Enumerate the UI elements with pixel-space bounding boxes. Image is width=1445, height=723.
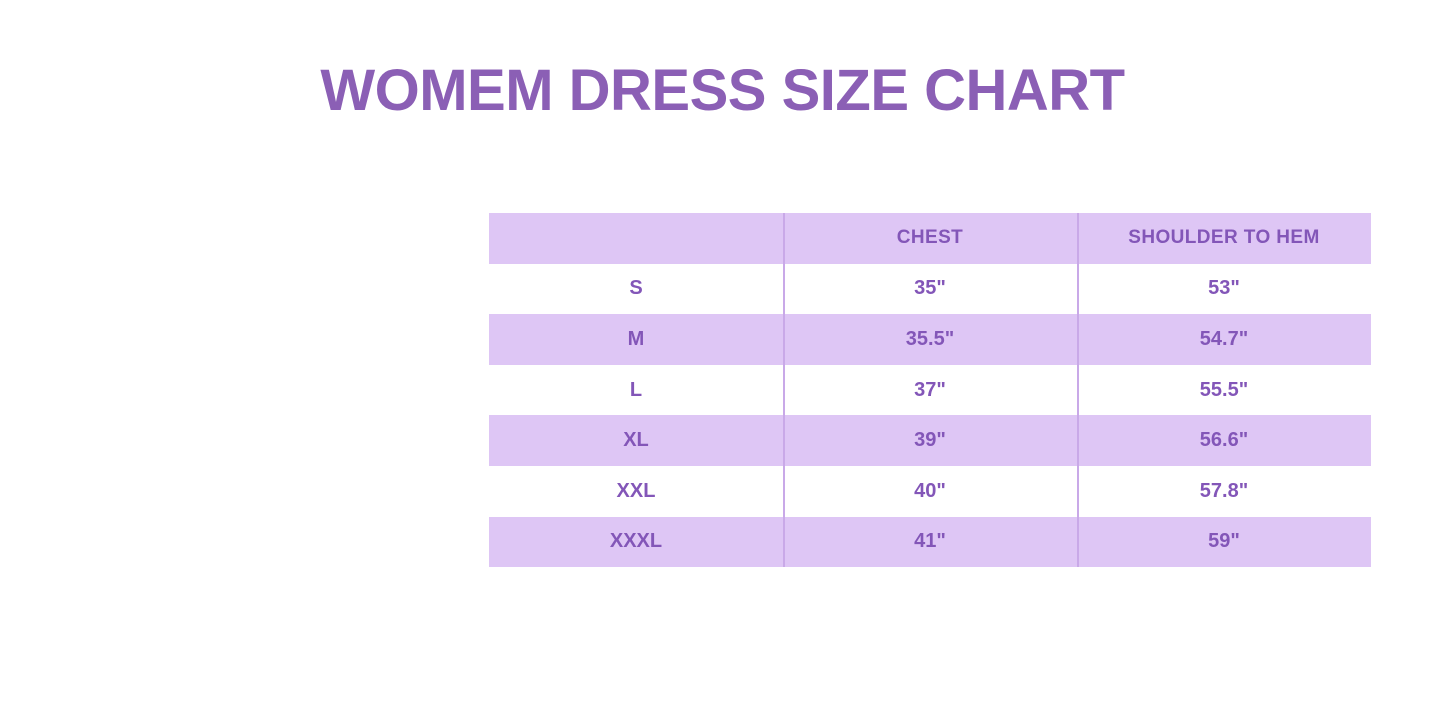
cell-shoulder-to-hem: 55.5"	[1077, 365, 1371, 416]
cell-chest: 41"	[783, 517, 1077, 568]
cell-size: L	[489, 365, 783, 416]
page-title: WOMEM DRESS SIZE CHART	[0, 56, 1445, 126]
column-header-shoulder-to-hem: SHOULDER TO HEM	[1077, 213, 1371, 264]
cell-chest: 39"	[783, 415, 1077, 466]
cell-shoulder-to-hem: 57.8"	[1077, 466, 1371, 517]
table-header: CHEST SHOULDER TO HEM	[489, 213, 1371, 264]
table-row: L 37" 55.5"	[489, 365, 1371, 416]
size-chart-page: WOMEM DRESS SIZE CHART CHEST SHOULDER TO…	[0, 0, 1445, 723]
cell-chest: 35"	[783, 264, 1077, 315]
cell-size: XL	[489, 415, 783, 466]
table-row: M 35.5" 54.7"	[489, 314, 1371, 365]
column-header-chest: CHEST	[783, 213, 1077, 264]
cell-shoulder-to-hem: 53"	[1077, 264, 1371, 315]
table-row: S 35" 53"	[489, 264, 1371, 315]
table-row: XXXL 41" 59"	[489, 517, 1371, 568]
cell-chest: 37"	[783, 365, 1077, 416]
table-row: XL 39" 56.6"	[489, 415, 1371, 466]
cell-chest: 35.5"	[783, 314, 1077, 365]
cell-shoulder-to-hem: 56.6"	[1077, 415, 1371, 466]
cell-shoulder-to-hem: 59"	[1077, 517, 1371, 568]
column-header-size	[489, 213, 783, 264]
cell-shoulder-to-hem: 54.7"	[1077, 314, 1371, 365]
size-chart-table: CHEST SHOULDER TO HEM S 35" 53" M 35.5" …	[489, 213, 1371, 567]
cell-size: XXL	[489, 466, 783, 517]
table-header-row: CHEST SHOULDER TO HEM	[489, 213, 1371, 264]
cell-size: M	[489, 314, 783, 365]
cell-size: XXXL	[489, 517, 783, 568]
cell-chest: 40"	[783, 466, 1077, 517]
table-row: XXL 40" 57.8"	[489, 466, 1371, 517]
table-body: S 35" 53" M 35.5" 54.7" L 37" 55.5" XL 3…	[489, 264, 1371, 568]
cell-size: S	[489, 264, 783, 315]
